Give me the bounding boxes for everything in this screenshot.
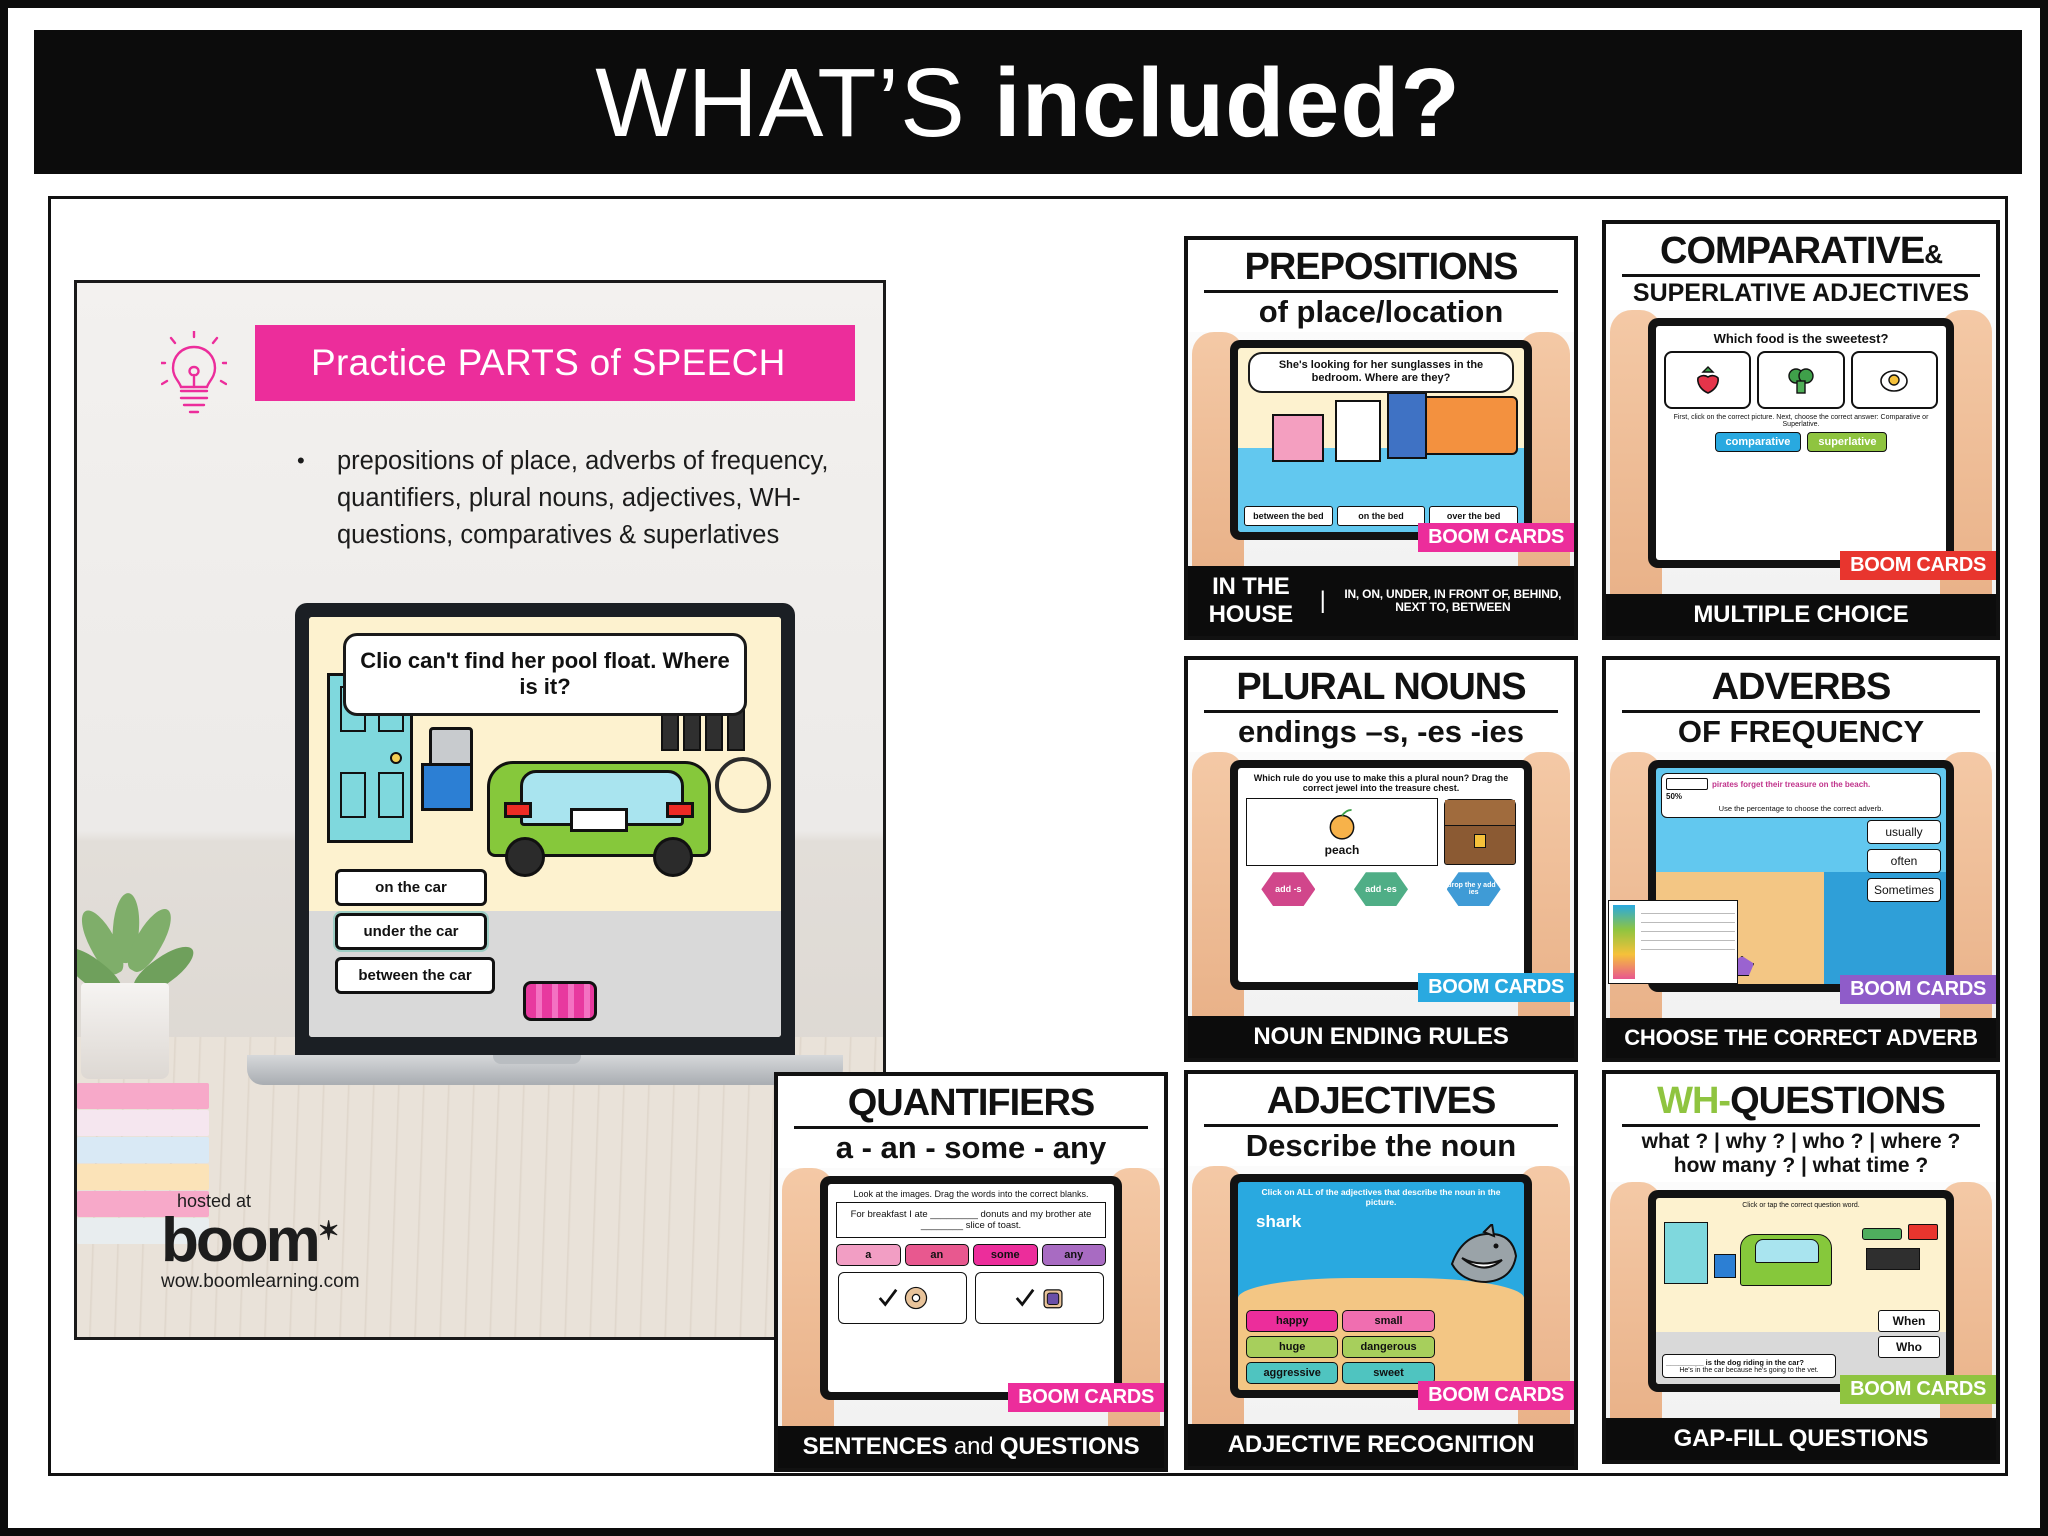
card-footer: SENTENCES and QUESTIONS (778, 1426, 1164, 1468)
food-option-strawberry[interactable] (1664, 351, 1751, 409)
car-icon (1740, 1234, 1832, 1286)
card-subtitle-line2: how many ? | what time ? (1612, 1154, 1990, 1178)
boom-cards-badge: BOOM CARDS (1418, 523, 1574, 552)
card-header: COMPARATIVE& SUPERLATIVE ADJECTIVES (1606, 224, 1996, 310)
card-prompt: pirates forget their treasure on the bea… (1712, 780, 1870, 789)
card-footer: ADJECTIVE RECOGNITION (1188, 1424, 1574, 1466)
slide-content: Practice PARTS of SPEECH • prepositions … (77, 283, 883, 1337)
card-title: COMPARATIVE& (1612, 232, 1990, 271)
recycle-bin-icon (421, 763, 473, 811)
word-image-box: peach (1246, 798, 1438, 866)
percent-label: 50% (1666, 792, 1936, 801)
option-row: comparative superlative (1656, 432, 1946, 452)
card-comparative[interactable]: COMPARATIVE& SUPERLATIVE ADJECTIVES Whic… (1602, 220, 2000, 640)
divider (1622, 1124, 1980, 1127)
card-title: ADJECTIVES (1194, 1082, 1568, 1121)
bullet-marker: • (297, 445, 305, 477)
card-header: ADJECTIVES Describe the noun (1188, 1074, 1574, 1166)
laptop-screen: Clio can't find her pool float. Where is… (309, 617, 781, 1037)
laptop-notch (493, 1055, 581, 1064)
card-hint: Click or tap the correct question word. (1656, 1198, 1946, 1213)
boom-cards-badge: BOOM CARDS (1840, 975, 1996, 1004)
card-photo: Look at the images. Drag the words into … (778, 1168, 1164, 1426)
tablet-screen: She's looking for her sunglasses in the … (1238, 348, 1524, 532)
check-icon (877, 1287, 899, 1309)
boom-wordmark: boom✶ (161, 1212, 421, 1269)
lightbulb-icon (161, 331, 227, 417)
option-add-es[interactable]: add -es (1354, 872, 1408, 906)
treasure-chest-icon[interactable] (1444, 799, 1516, 865)
option-dangerous[interactable]: dangerous (1342, 1336, 1434, 1358)
boom-cards-badge: BOOM CARDS (1418, 973, 1574, 1002)
card-subtitle-line1: what ? | why ? | who ? | where ? (1612, 1130, 1990, 1154)
image-box-donut (838, 1272, 967, 1324)
option-often[interactable]: often (1867, 849, 1941, 873)
divider (1204, 290, 1558, 293)
card-header: PREPOSITIONS of place/location (1188, 240, 1574, 332)
page-title-thin: WHAT’S (595, 48, 994, 157)
donut-icon (903, 1285, 929, 1311)
card-quantifiers[interactable]: QUANTIFIERS a - an - some - any Look at … (774, 1072, 1168, 1472)
footer-bold-1: SENTENCES (803, 1433, 948, 1460)
card-subtitle: of place/location (1194, 296, 1568, 329)
option-comparative[interactable]: comparative (1715, 432, 1802, 452)
card-prompt: For breakfast I ate _________ donuts and… (836, 1202, 1106, 1238)
bicycle-wheel-icon (715, 757, 771, 813)
option-on-the-bed[interactable]: on the bed (1337, 506, 1426, 526)
header-banner: WHAT’S included? (34, 30, 2022, 174)
boom-logo: hosted at boom✶ wow.boomlearning.com (161, 1191, 421, 1293)
option-superlative[interactable]: superlative (1807, 432, 1887, 452)
preview-panel: Practice PARTS of SPEECH • prepositions … (74, 280, 886, 1340)
tablet-screen: Look at the images. Drag the words into … (828, 1184, 1114, 1392)
option-small[interactable]: small (1342, 1310, 1434, 1332)
option-sometimes[interactable]: Sometimes (1867, 878, 1941, 902)
slide-title-bar: Practice PARTS of SPEECH (255, 325, 855, 401)
star-icon: ✶ (318, 1215, 337, 1245)
divider (794, 1126, 1148, 1129)
card-hint: Look at the images. Drag the words into … (828, 1184, 1114, 1202)
option-some[interactable]: some (973, 1244, 1038, 1266)
slide-title: Practice PARTS of SPEECH (255, 342, 786, 384)
option-a[interactable]: a (836, 1244, 901, 1266)
footer-divider: | (1320, 587, 1326, 615)
peach-icon (1325, 807, 1359, 841)
card-subtitle: endings –s, -es -ies (1194, 716, 1568, 749)
card-prepositions[interactable]: PREPOSITIONS of place/location She's loo… (1184, 236, 1578, 640)
tablet-screen: Click or tap the correct question word. … (1656, 1198, 1946, 1384)
pool-float-icon (523, 981, 597, 1021)
card-photo: Click or tap the correct question word. … (1606, 1182, 1996, 1418)
card-photo: Which rule do you use to make this a plu… (1188, 752, 1574, 1016)
slide-bullet-list: • prepositions of place, adverbs of freq… (283, 443, 875, 554)
card-title: PREPOSITIONS (1194, 248, 1568, 287)
food-option-broccoli[interactable] (1757, 351, 1844, 409)
card-footer: CHOOSE THE CORRECT ADVERB (1606, 1018, 1996, 1058)
recycle-bin-icon (1714, 1254, 1736, 1278)
tablet-mockup: Which rule do you use to make this a plu… (1230, 760, 1532, 990)
tablet-screen: Which food is the sweetest? First, click… (1656, 326, 1946, 560)
boom-cards-badge: BOOM CARDS (1008, 1383, 1164, 1412)
tablet-mockup: Look at the images. Drag the words into … (820, 1176, 1122, 1400)
card-subtitle: Describe the noun (1194, 1130, 1568, 1163)
card-prompt: Which food is the sweetest? (1656, 326, 1946, 351)
card-header: ADVERBS OF FREQUENCY (1606, 660, 1996, 752)
card-title: ADVERBS (1612, 668, 1990, 707)
word-label: peach (1325, 843, 1360, 857)
card-footer-sub: IN, ON, UNDER, IN FRONT OF, BEHIND, NEXT… (1336, 588, 1570, 614)
card-title: PLURAL NOUNS (1194, 668, 1568, 707)
tablet-mockup: She's looking for her sunglasses in the … (1230, 340, 1532, 540)
card-title: QUANTIFIERS (784, 1084, 1158, 1123)
card-header: PLURAL NOUNS endings –s, -es -ies (1188, 660, 1574, 752)
boom-cards-badge: BOOM CARDS (1840, 551, 1996, 580)
tablet-screen: Click on ALL of the adjectives that desc… (1238, 1182, 1524, 1390)
car-icon (487, 733, 711, 873)
blank-field[interactable] (1666, 778, 1708, 790)
footer-thin: and (947, 1433, 999, 1460)
toast-icon (1040, 1285, 1066, 1311)
tablet-mockup: Which food is the sweetest? First, click… (1648, 318, 1954, 568)
page-title-bold: included? (994, 48, 1461, 157)
option-huge[interactable]: huge (1246, 1336, 1338, 1358)
card-photo: pirates forget their treasure on the bea… (1606, 752, 1996, 1018)
image-box-toast (975, 1272, 1104, 1324)
card-subtitle: SUPERLATIVE ADJECTIVES (1612, 280, 1990, 306)
card-photo: Which food is the sweetest? First, click… (1606, 310, 1996, 594)
divider (1622, 710, 1980, 713)
card-prompt: Which rule do you use to make this a plu… (1238, 768, 1524, 798)
bullet-text: prepositions of place, adverbs of freque… (337, 443, 875, 554)
garage-door-icon (1664, 1222, 1708, 1284)
card-header: WH-QUESTIONS what ? | why ? | who ? | wh… (1606, 1074, 1996, 1182)
card-subtitle: a - an - some - any (784, 1132, 1158, 1165)
card-footer: NOUN ENDING RULES (1188, 1016, 1574, 1058)
choice-on-the-car[interactable]: on the car (335, 869, 487, 906)
tablet-mockup: Click or tap the correct question word. … (1648, 1190, 1954, 1392)
card-wh-questions[interactable]: WH-QUESTIONS what ? | why ? | who ? | wh… (1602, 1070, 2000, 1464)
reference-chart-icon (1608, 900, 1738, 984)
boom-cards-badge: BOOM CARDS (1840, 1375, 1996, 1404)
card-footer: GAP-FILL QUESTIONS (1606, 1418, 1996, 1460)
card-footer: MULTIPLE CHOICE (1606, 594, 1996, 636)
option-usually[interactable]: usually (1867, 820, 1941, 844)
page-title: WHAT’S included? (595, 54, 1461, 151)
card-prompt: Click on ALL of the adjectives that desc… (1238, 1182, 1524, 1212)
option-happy[interactable]: happy (1246, 1310, 1338, 1332)
tablet-screen: Which rule do you use to make this a plu… (1238, 768, 1524, 982)
divider (1204, 710, 1558, 713)
card-prompt: _________ is the dog riding in the car? (1666, 1358, 1832, 1367)
card-adverbs[interactable]: ADVERBS OF FREQUENCY pirates forget thei… (1602, 656, 2000, 1062)
food-option-fried-egg[interactable] (1851, 351, 1938, 409)
laptop-lid: Clio can't find her pool float. Where is… (295, 603, 795, 1063)
option-add-ies[interactable]: drop the y add -ies (1447, 872, 1501, 906)
card-adjectives[interactable]: ADJECTIVES Describe the noun Click on AL… (1184, 1070, 1578, 1470)
option-aggressive[interactable]: aggressive (1246, 1362, 1338, 1384)
card-footer-label: IN THE HOUSE (1192, 573, 1310, 629)
option-add-s[interactable]: add -s (1261, 872, 1315, 906)
card-subtitle: OF FREQUENCY (1612, 716, 1990, 749)
check-icon (1014, 1287, 1036, 1309)
poster-page: WHAT’S included? (0, 0, 2048, 1536)
card-plural-nouns[interactable]: PLURAL NOUNS endings –s, -es -ies Which … (1184, 656, 1578, 1062)
boom-card-scene-garage: Clio can't find her pool float. Where is… (309, 617, 781, 1037)
laptop-mockup: Clio can't find her pool float. Where is… (237, 603, 837, 1183)
option-between-the-bed[interactable]: between the bed (1244, 506, 1333, 526)
card-photo: Click on ALL of the adjectives that desc… (1188, 1166, 1574, 1424)
shark-icon (1444, 1224, 1518, 1284)
card-title: WH-QUESTIONS (1612, 1082, 1990, 1121)
question-bubble: Clio can't find her pool float. Where is… (343, 633, 747, 716)
card-header: QUANTIFIERS a - an - some - any (778, 1076, 1164, 1168)
tablet-mockup: Click on ALL of the adjectives that desc… (1230, 1174, 1532, 1398)
choice-between-the-car[interactable]: between the car (335, 957, 495, 994)
boom-url: wow.boomlearning.com (161, 1271, 421, 1293)
card-answer: He's in the car because he's going to th… (1666, 1367, 1832, 1374)
shelf-icon (1862, 1222, 1940, 1286)
option-who[interactable]: Who (1878, 1336, 1940, 1358)
card-photo: She's looking for her sunglasses in the … (1188, 332, 1574, 566)
card-prompt: She's looking for her sunglasses in the … (1248, 352, 1514, 392)
option-an[interactable]: an (905, 1244, 970, 1266)
option-any[interactable]: any (1042, 1244, 1107, 1266)
card-title-wh: WH- (1657, 1080, 1730, 1122)
divider (1204, 1124, 1558, 1127)
footer-bold-2: QUESTIONS (1000, 1433, 1140, 1460)
choice-under-the-car[interactable]: under the car (335, 913, 487, 950)
divider (1622, 274, 1980, 277)
card-hint: Use the percentage to choose the correct… (1666, 804, 1936, 813)
card-footer: IN THE HOUSE | IN, ON, UNDER, IN FRONT O… (1188, 566, 1574, 636)
ampersand: & (1924, 239, 1942, 269)
boom-cards-badge: BOOM CARDS (1418, 1381, 1574, 1410)
card-hint: First, click on the correct picture. Nex… (1656, 409, 1946, 432)
option-when[interactable]: When (1878, 1310, 1940, 1332)
